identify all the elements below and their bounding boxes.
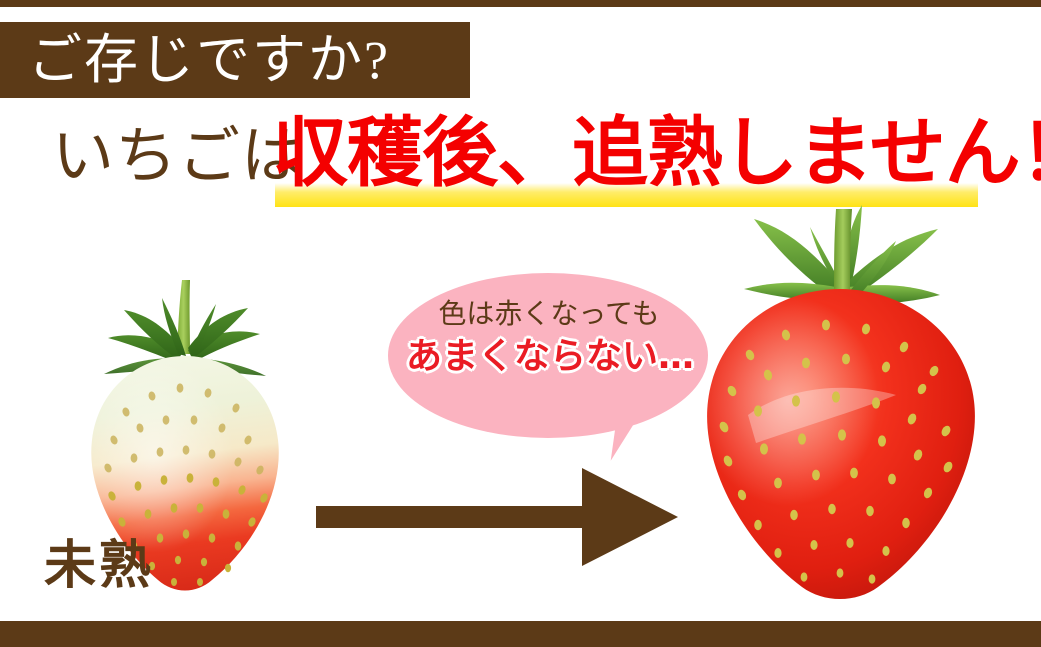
callout-line-2: あまくならない… [402, 339, 698, 375]
unripe-caption-label: 未熟 [44, 541, 154, 593]
ripe-strawberry-image [690, 205, 990, 605]
callout-balloon: 色は赤くなっても あまくならない… [388, 273, 712, 445]
eyebrow-title-text: ご存じですか? [0, 33, 390, 87]
callout-line-1: 色は赤くなっても [418, 301, 680, 329]
promo-banner: ご存じですか? いちごは 収穫後、追熟しません！ [0, 0, 1041, 647]
right-arrow-icon [316, 462, 684, 572]
top-divider-bar [0, 0, 1041, 7]
headline-plain-text: いちごは [52, 126, 304, 188]
eyebrow-title-box: ご存じですか? [0, 22, 470, 98]
headline-accent-text: 収穫後、追熟しません！ [272, 116, 1041, 192]
bottom-divider-bar [0, 621, 1041, 647]
